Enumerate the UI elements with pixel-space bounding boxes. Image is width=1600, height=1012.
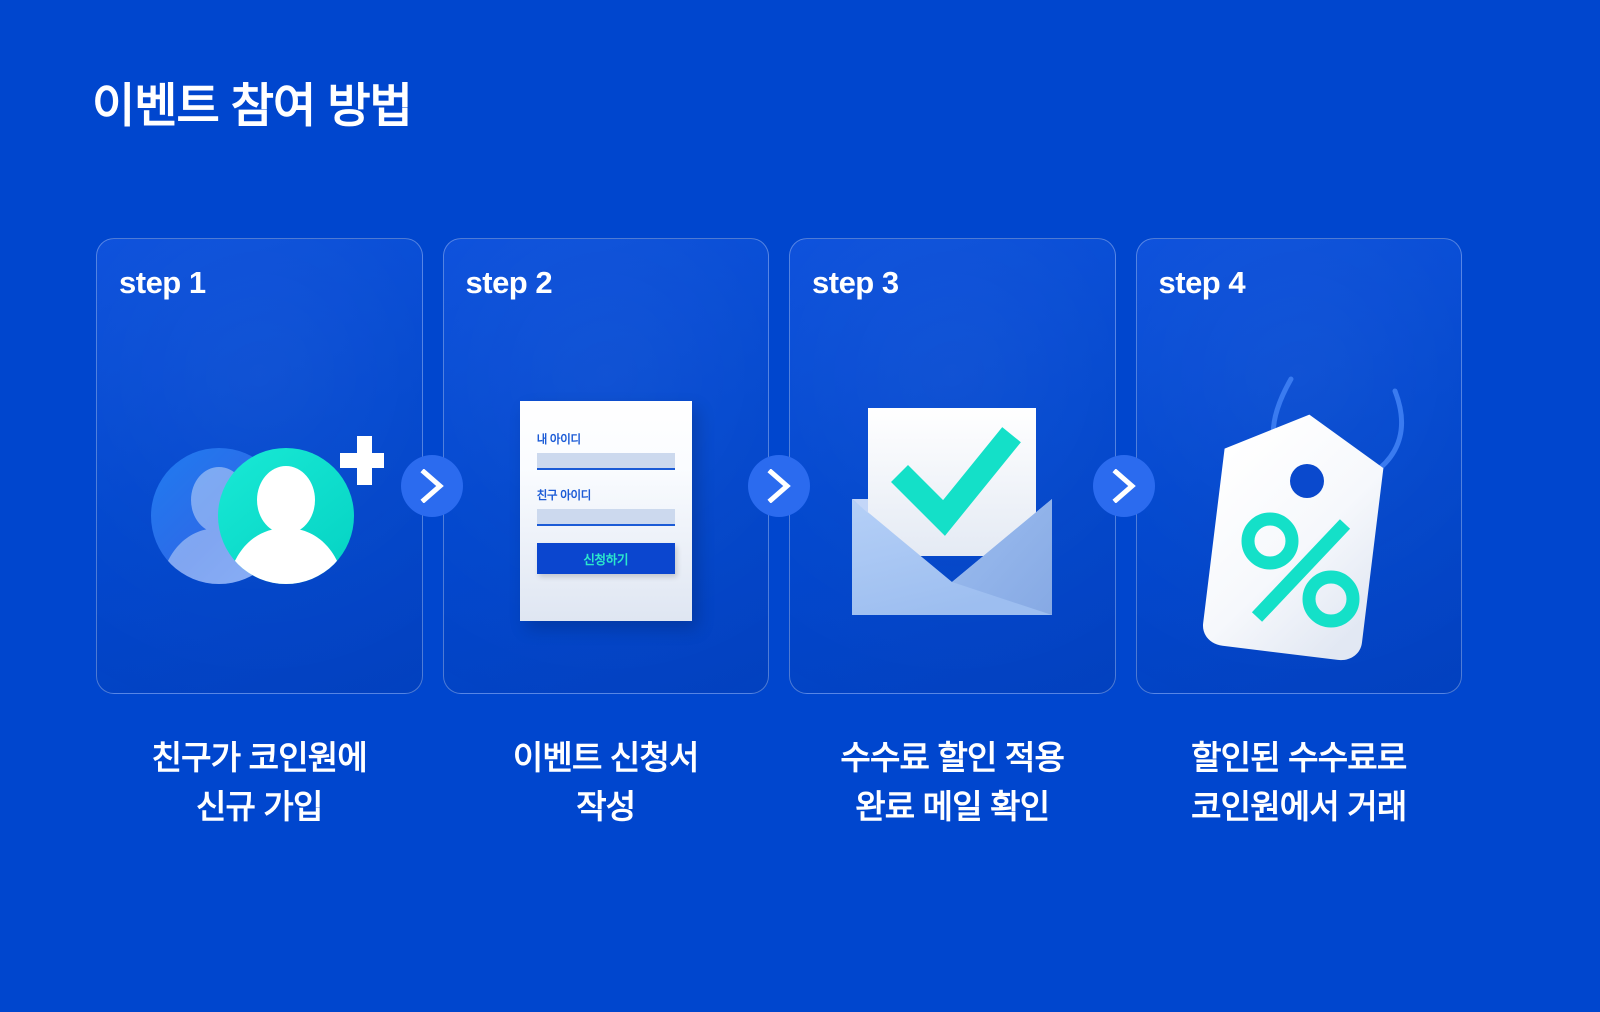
step-card-1[interactable]: step 1 bbox=[96, 238, 423, 694]
step-separator-1 bbox=[401, 455, 463, 517]
step-separator-3 bbox=[1093, 455, 1155, 517]
my-id-field-label: 내 아이디 bbox=[537, 431, 675, 447]
apply-button[interactable]: 신청하기 bbox=[537, 543, 675, 574]
step-caption-1-line1: 친구가 코인원에 bbox=[96, 734, 423, 783]
step-caption-3-line2: 완료 메일 확인 bbox=[789, 783, 1116, 832]
step-caption-1-line2: 신규 가입 bbox=[96, 783, 423, 832]
step-3-artwork bbox=[790, 329, 1115, 693]
chevron-right-icon bbox=[1111, 469, 1137, 503]
step-card-2[interactable]: step 2 내 아이디 친구 아이디 신청하기 bbox=[443, 238, 770, 694]
captions-container: 친구가 코인원에 신규 가입 이벤트 신청서 작성 수수료 할인 적용 완료 메… bbox=[96, 734, 1462, 831]
step-caption-4-line1: 할인된 수수료로 bbox=[1136, 734, 1463, 783]
step-1-artwork bbox=[97, 329, 422, 693]
step-caption-4-line2: 코인원에서 거래 bbox=[1136, 783, 1463, 832]
friend-id-input[interactable] bbox=[537, 509, 675, 526]
step-label-4: step 4 bbox=[1159, 265, 1246, 301]
percent-price-tag-icon bbox=[1159, 361, 1439, 661]
chevron-right-icon bbox=[766, 469, 792, 503]
plus-icon bbox=[340, 436, 384, 485]
step-caption-3: 수수료 할인 적용 완료 메일 확인 bbox=[789, 734, 1116, 831]
step-label-3: step 3 bbox=[812, 265, 899, 301]
friend-id-field-label: 친구 아이디 bbox=[537, 487, 675, 503]
step-label-1: step 1 bbox=[119, 265, 206, 301]
step-caption-2: 이벤트 신청서 작성 bbox=[443, 734, 770, 831]
step-caption-1: 친구가 코인원에 신규 가입 bbox=[96, 734, 423, 831]
step-caption-3-line1: 수수료 할인 적용 bbox=[789, 734, 1116, 783]
step-separator-2 bbox=[748, 455, 810, 517]
tag-hole bbox=[1290, 464, 1324, 498]
step-card-3[interactable]: step 3 bbox=[789, 238, 1116, 694]
step-card-4[interactable]: step 4 bbox=[1136, 238, 1463, 694]
my-id-input[interactable] bbox=[537, 453, 675, 470]
page-title: 이벤트 참여 방법 bbox=[92, 78, 412, 134]
step-label-2: step 2 bbox=[466, 265, 553, 301]
two-users-plus-icon bbox=[134, 416, 384, 606]
application-form-icon: 내 아이디 친구 아이디 신청하기 bbox=[520, 401, 692, 621]
step-caption-4: 할인된 수수료로 코인원에서 거래 bbox=[1136, 734, 1463, 831]
chevron-right-icon bbox=[419, 469, 445, 503]
step-4-artwork bbox=[1137, 329, 1462, 693]
step-caption-2-line2: 작성 bbox=[443, 783, 770, 832]
step-2-artwork: 내 아이디 친구 아이디 신청하기 bbox=[444, 329, 769, 693]
step-caption-2-line1: 이벤트 신청서 bbox=[443, 734, 770, 783]
envelope-check-icon bbox=[852, 404, 1052, 619]
